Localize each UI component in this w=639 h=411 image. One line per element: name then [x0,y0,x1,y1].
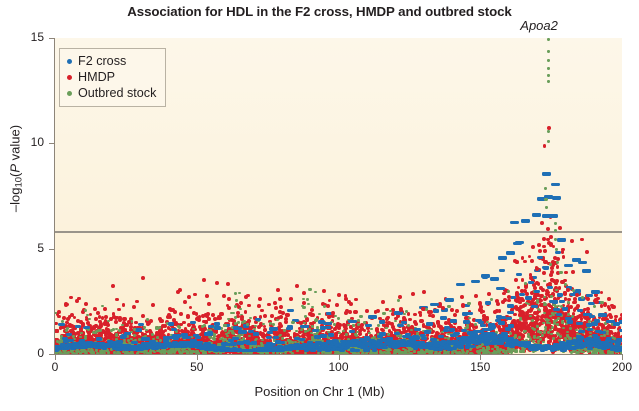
data-point [550,266,554,270]
data-point [123,317,127,321]
data-point [244,310,248,314]
data-point [549,273,553,277]
data-point [169,308,173,312]
data-point [322,289,326,293]
data-point [94,324,98,328]
data-point [345,309,349,313]
data-point [391,325,395,329]
data-point [273,301,277,305]
data-point [418,311,422,315]
data-point [279,305,283,309]
data-point [607,297,611,301]
data-point [499,328,503,332]
data-point [215,281,219,285]
data-point [132,305,136,309]
data-point [520,297,524,301]
data-point [360,327,364,331]
data-point [327,315,331,319]
data-point [117,308,121,312]
data-point [111,284,115,288]
data-point [609,330,613,334]
data-point [186,314,190,318]
data-point [205,294,209,298]
data-point [482,314,486,318]
data-point [202,278,206,282]
data-point [487,292,491,296]
data-point [501,300,505,304]
data-point [104,315,108,319]
data-point [278,310,282,314]
data-point [474,294,478,298]
data-point [112,315,116,319]
data-point [513,259,517,263]
data-point [183,300,187,304]
data-point [422,325,426,329]
data-point [535,281,539,285]
data-point [179,312,183,316]
data-point [68,315,72,319]
data-point [586,307,590,311]
data-point [151,303,155,307]
data-point [385,308,389,312]
data-point [533,294,537,298]
data-point [274,306,278,310]
data-point [537,243,541,247]
data-point [414,322,418,326]
data-point [94,317,98,321]
data-point [411,292,415,296]
data-point [571,270,575,274]
data-point [542,271,546,275]
data-point [258,297,262,301]
data-point [96,311,100,315]
data-point [337,293,341,297]
data-point [453,313,457,317]
data-point [187,295,191,299]
data-point [260,309,264,313]
data-point [270,314,274,318]
data-point [347,300,351,304]
data-point [460,295,464,299]
data-point [620,313,622,317]
data-point [601,317,605,321]
data-point [531,245,535,249]
data-point [302,291,306,295]
data-point [436,321,440,325]
data-point [402,327,406,331]
data-point [118,318,122,322]
data-point [570,239,574,243]
data-point [114,320,118,324]
data-point [464,316,468,320]
data-point [422,290,426,294]
data-point [474,325,478,329]
data-point [279,315,283,319]
data-point [455,309,459,313]
data-point [278,297,282,301]
data-point [541,288,545,292]
data-point [247,304,251,308]
data-point [141,276,145,280]
data-point [507,299,511,303]
data-point [98,315,102,319]
data-point [558,226,562,230]
data-point [552,279,556,283]
data-point [335,303,339,307]
data-point [101,316,105,320]
data-point [543,249,547,253]
data-point [276,288,280,292]
data-point [381,300,385,304]
significance-threshold-line [55,231,622,233]
data-point [546,238,550,242]
data-point [540,221,544,225]
data-point [515,329,519,333]
data-point [206,312,210,316]
data-point [419,319,423,323]
data-point [84,302,88,306]
data-point [178,288,182,292]
data-point [530,259,534,263]
data-point [102,330,106,334]
data-point [226,282,230,286]
page-title: Association for HDL in the F2 cross, HMD… [0,4,639,19]
data-point [173,310,177,314]
data-point [340,336,344,340]
